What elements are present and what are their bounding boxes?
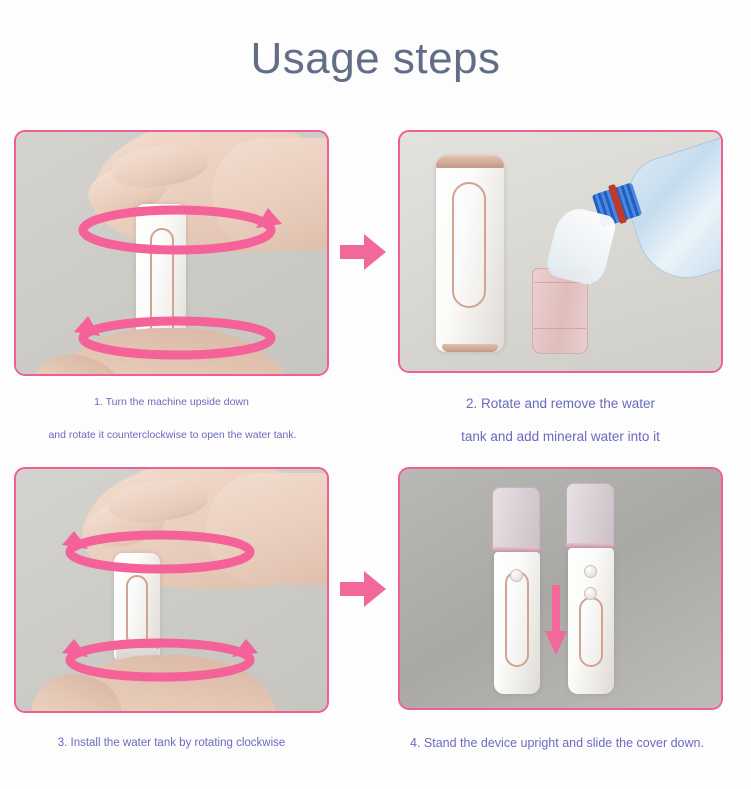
- device-window-right: [579, 597, 603, 667]
- rotation-arrow-lower: [60, 635, 260, 681]
- step-2-image-panel: [398, 130, 723, 373]
- tank-water-line: [534, 328, 586, 329]
- slide-down-arrow-icon: [545, 585, 567, 655]
- step-4-caption: 4. Stand the device upright and slide th…: [392, 736, 722, 752]
- step-4-photo: [400, 469, 721, 708]
- rotation-arrow-upper: [72, 202, 282, 254]
- step-2-caption-line-1: 2. Rotate and remove the water: [398, 396, 723, 413]
- step-arrow-right-icon: [340, 569, 386, 609]
- usage-steps-page: Usage steps: [0, 0, 751, 789]
- device-window-left: [505, 571, 529, 667]
- step-arrow-right-icon: [340, 232, 386, 272]
- device-base-trim: [442, 344, 498, 352]
- step-1-caption-line-1: 1. Turn the machine upside down: [14, 396, 329, 409]
- step-1-photo: [16, 132, 327, 374]
- step-3-image-panel: [14, 467, 329, 713]
- step-2-photo: [400, 132, 721, 371]
- device-button-right-top: [584, 565, 597, 578]
- step-3-photo: [16, 469, 327, 711]
- device-button-left: [510, 569, 523, 582]
- device-cover-left: [492, 487, 540, 551]
- step-3-caption: 3. Install the water tank by rotating cl…: [14, 736, 329, 750]
- rotation-arrow-lower: [72, 312, 282, 360]
- step-1-image-panel: [14, 130, 329, 376]
- step-1-caption-line-2: and rotate it counterclockwise to open t…: [0, 429, 345, 442]
- rotation-arrow-upper: [60, 527, 260, 573]
- device-top-trim: [436, 156, 504, 168]
- device-window: [452, 182, 486, 308]
- device-button-right-bottom: [584, 587, 597, 600]
- step-2-caption-line-2: tank and add mineral water into it: [398, 429, 723, 446]
- step-4-image-panel: [398, 467, 723, 710]
- page-title: Usage steps: [0, 34, 751, 84]
- pouring-water-stream: [544, 204, 618, 288]
- device-cover-right: [566, 483, 614, 547]
